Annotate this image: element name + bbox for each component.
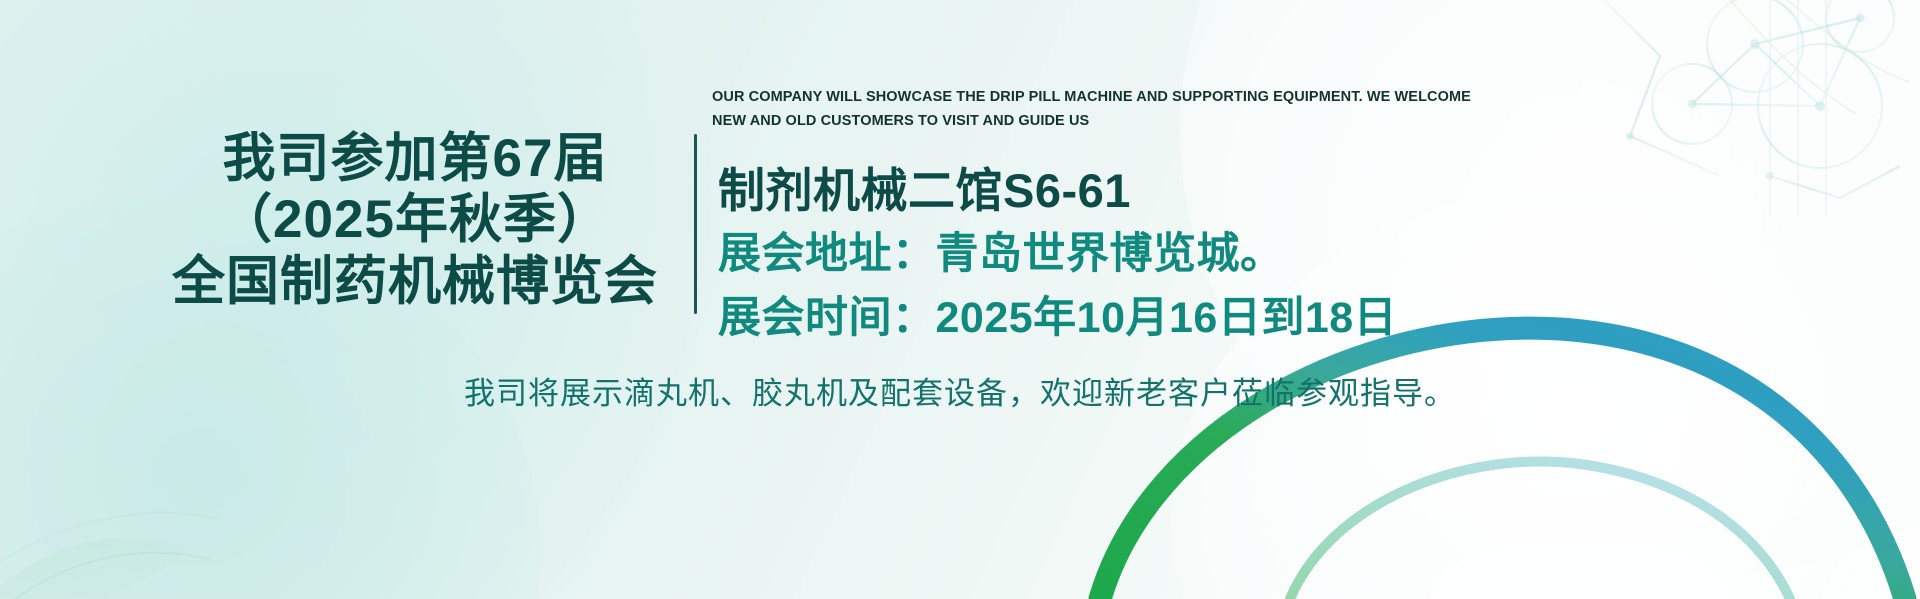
exhibition-date: 展会时间：2025年10月16日到18日: [718, 283, 1397, 345]
headline-line-1: 我司参加第67届: [150, 128, 680, 189]
headline-block: 我司参加第67届 （2025年秋季） 全国制药机械博览会: [150, 128, 680, 312]
exhibition-banner: 我司参加第67届 （2025年秋季） 全国制药机械博览会 OUR COMPANY…: [0, 0, 1920, 599]
tagline-text: 我司将展示滴丸机、胶丸机及配套设备，欢迎新老客户莅临参观指导。: [0, 368, 1920, 413]
headline-line-2: （2025年秋季）: [150, 189, 680, 250]
english-description: OUR COMPANY WILL SHOWCASE THE DRIP PILL …: [712, 86, 1482, 134]
vertical-divider: [694, 134, 697, 314]
leaf-artwork-icon: [0, 399, 480, 599]
exhibition-address: 展会地址：青岛世界博览城。: [718, 219, 1284, 281]
headline-line-3: 全国制药机械博览会: [150, 251, 680, 312]
booth-location: 制剂机械二馆S6-61: [718, 152, 1131, 221]
